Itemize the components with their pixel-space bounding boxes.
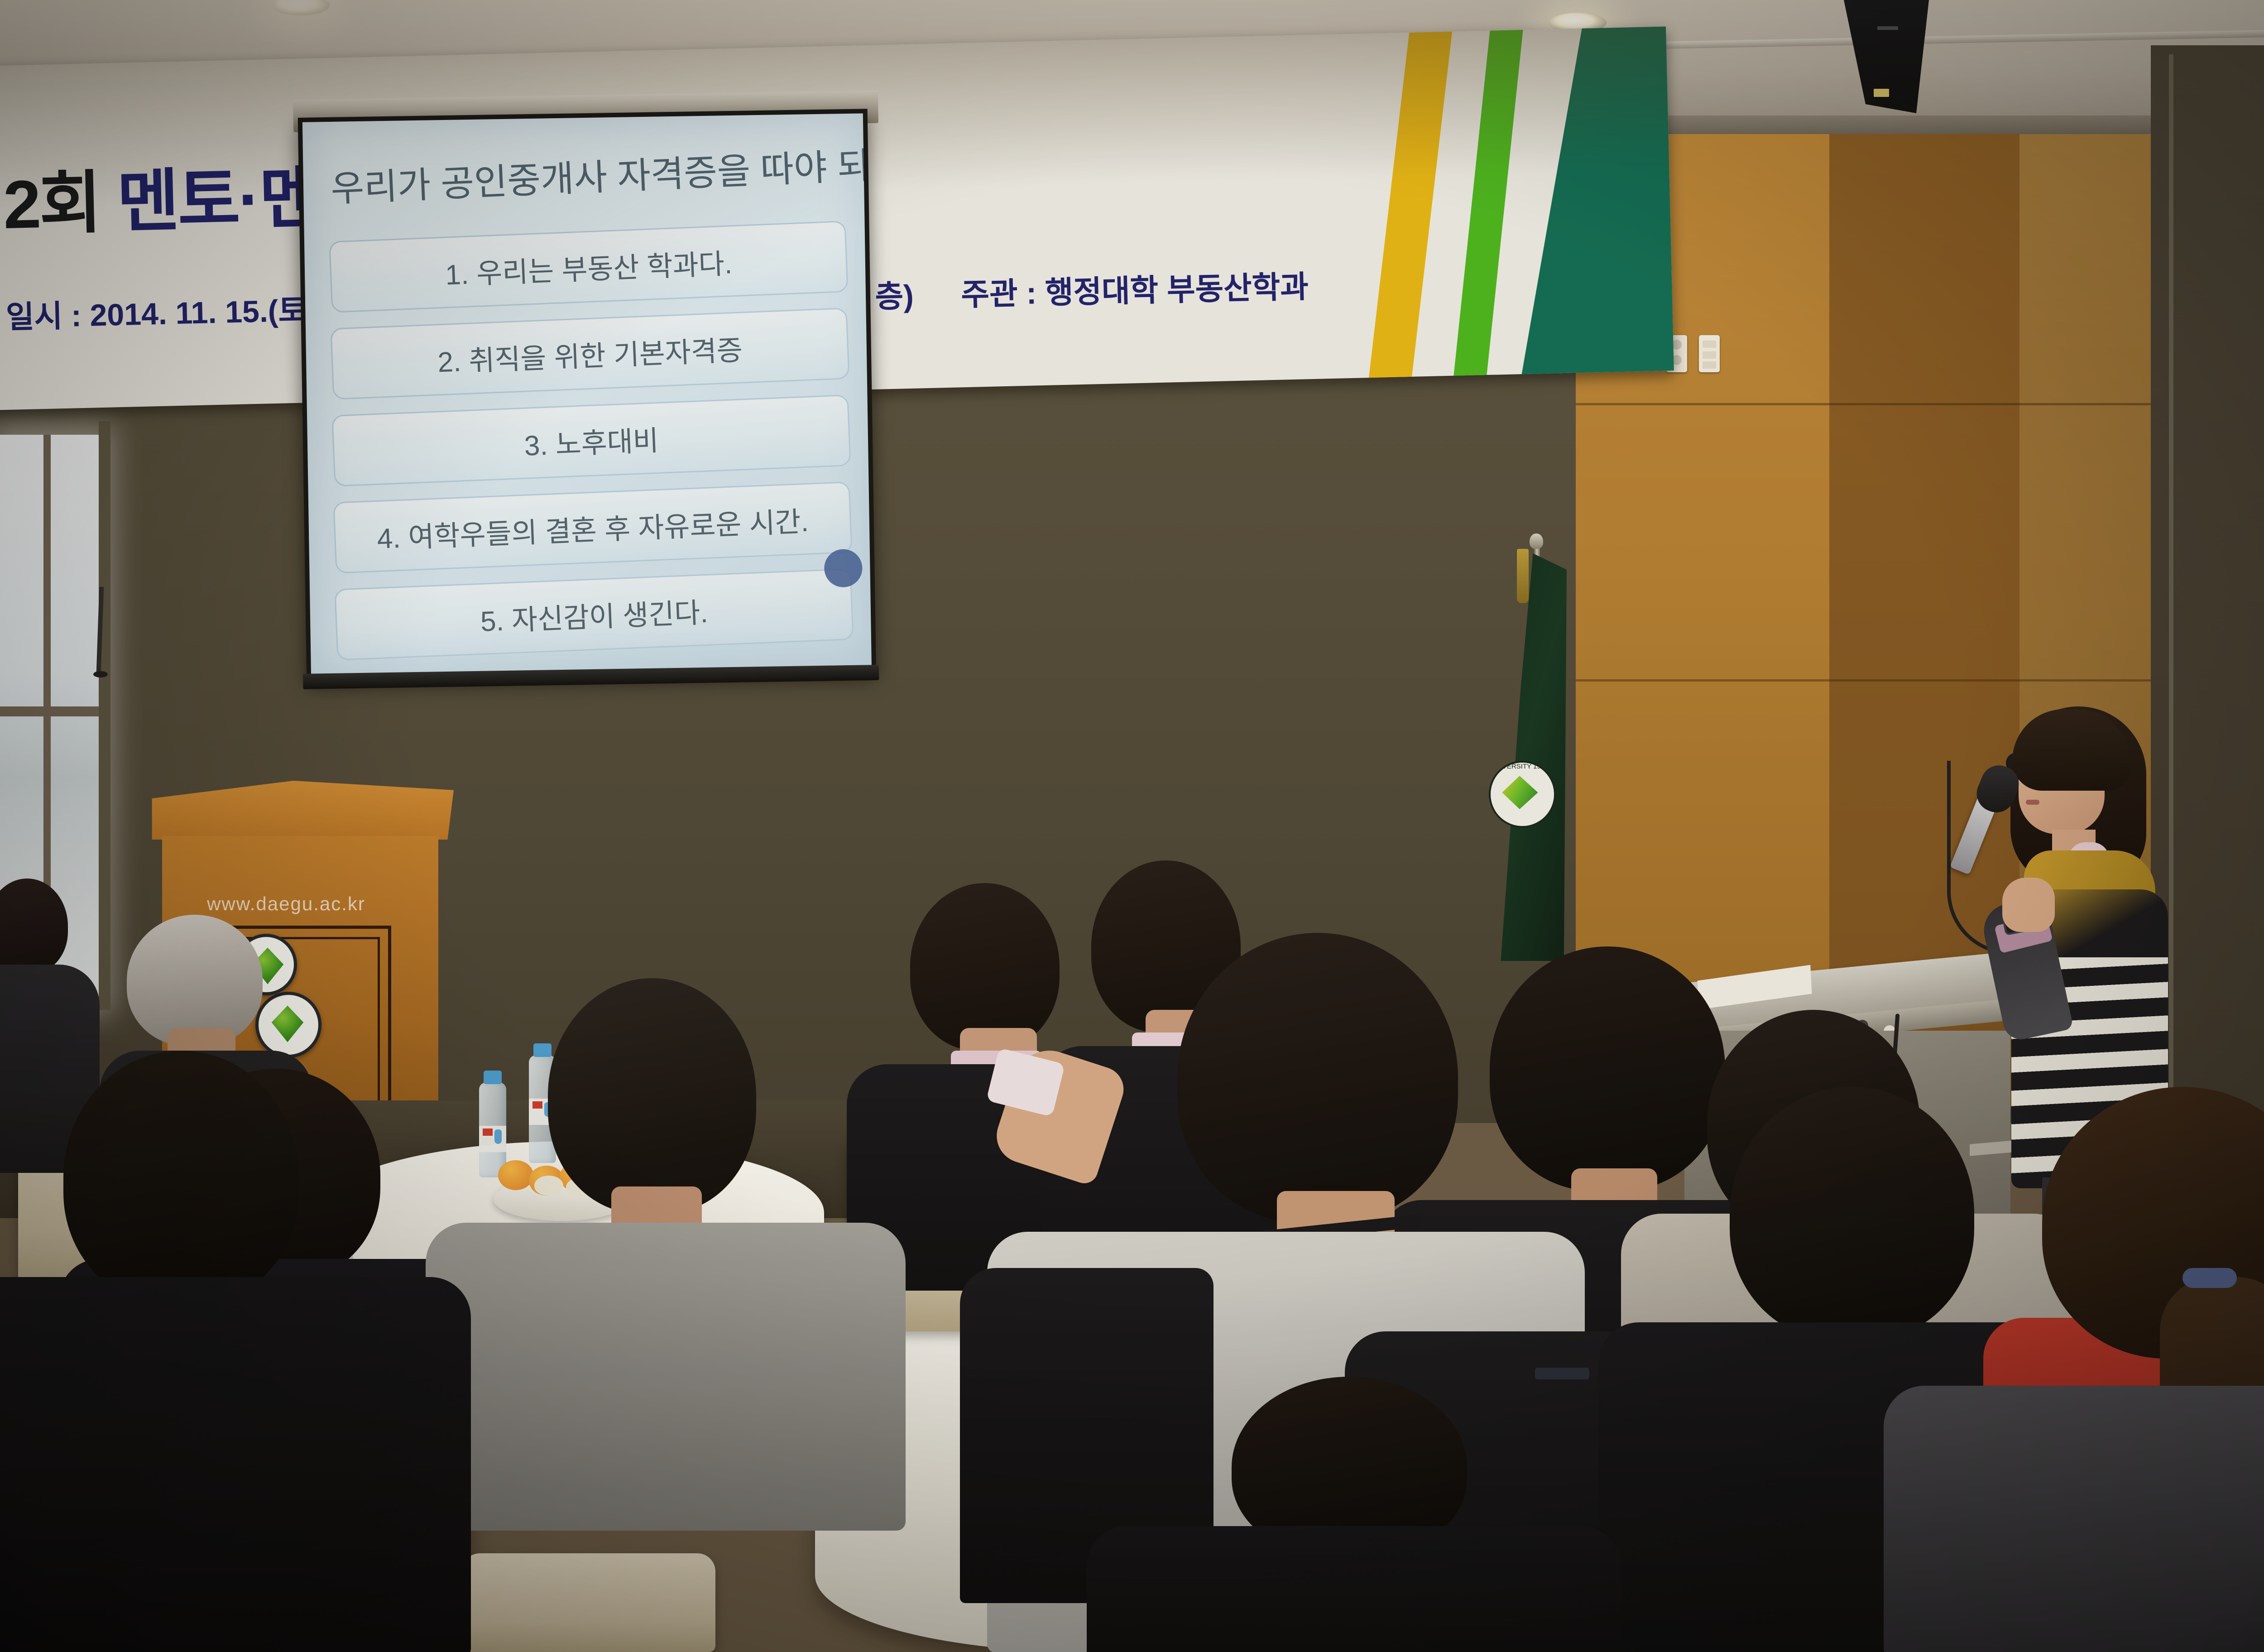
chair xyxy=(462,1553,715,1652)
slide-bullet-4-label: 4. 여학우들의 결혼 후 자유로운 시간. xyxy=(376,499,809,557)
banner-host-line: 주관 : 행정대학 부동산학과 xyxy=(960,261,1309,314)
head xyxy=(63,1051,299,1304)
podium-top xyxy=(146,781,454,840)
attendee-front-left-dark xyxy=(0,1051,417,1652)
head xyxy=(548,978,756,1214)
attendee-grey-jacket-front xyxy=(475,978,856,1522)
wood-seam xyxy=(1576,403,2155,405)
head xyxy=(127,915,263,1046)
torso xyxy=(0,1277,471,1652)
slide-cursor-blob xyxy=(824,548,863,588)
slide-bullet-list: 1. 우리는 부동산 학과다. 2. 취직을 위한 기본자격증 3. 노후대비 … xyxy=(330,227,854,670)
window-frame xyxy=(99,421,110,1010)
slide-bullet-5: 5. 자신감이 생긴다. xyxy=(334,568,854,661)
head xyxy=(1177,933,1458,1223)
slide-bullet-1: 1. 우리는 부동산 학과다. xyxy=(329,221,848,313)
lecture-hall-photo: 2회 멘토·멘특강 및 세미나 일시 : 2014. 11. 15.(토)10:… xyxy=(0,0,2264,1652)
flag-finial xyxy=(1530,533,1543,549)
flag-seal: UNIVERSITY 1956 xyxy=(1489,761,1556,828)
torso xyxy=(1087,1526,1621,1652)
projected-slide: 우리가 공인중개사 자격증을 따야 되는 이유 1. 우리는 부동산 학과다. … xyxy=(302,113,872,674)
presenter-hand xyxy=(2002,878,2055,932)
flag-seal-text: UNIVERSITY 1956 xyxy=(1491,763,1554,826)
banner-title-prefix: 2회 xyxy=(2,164,101,243)
slide-bullet-3: 3. 노후대비 xyxy=(331,394,851,487)
slide-bullet-3-label: 3. 노후대비 xyxy=(523,418,659,464)
attendee-ponytail-right xyxy=(1938,1087,2264,1652)
head xyxy=(0,879,68,974)
torso xyxy=(1884,1386,2264,1652)
slide-bullet-4: 4. 여학우들의 결혼 후 자유로운 시간. xyxy=(333,481,852,574)
head xyxy=(1730,1087,1974,1340)
window-mullion xyxy=(0,706,104,716)
banner-title-main: 멘토·멘 xyxy=(99,159,321,240)
screen-stand-foot xyxy=(93,671,108,677)
slide-bullet-5-label: 5. 자신감이 생긴다. xyxy=(480,590,709,639)
wood-seam xyxy=(1576,679,2155,682)
presenter-mouth xyxy=(2026,800,2039,805)
projection-screen: 우리가 공인중개사 자격증을 따야 되는 이유 1. 우리는 부동산 학과다. … xyxy=(289,91,888,734)
flag-tassel xyxy=(1517,549,1529,603)
torso xyxy=(426,1223,906,1531)
attendee-front-center-bottom xyxy=(1105,1377,1603,1652)
light-switch-icon[interactable] xyxy=(1699,335,1720,372)
slide-bullet-2-label: 2. 취직을 위한 기본자격증 xyxy=(437,327,743,380)
screen-frame: 우리가 공인중개사 자격증을 따야 되는 이유 1. 우리는 부동산 학과다. … xyxy=(298,109,876,679)
slide-title: 우리가 공인중개사 자격증을 따야 되는 이유 xyxy=(330,137,851,212)
podium-url-label: www.daegu.ac.kr xyxy=(182,893,390,915)
hair-tie xyxy=(2182,1268,2237,1288)
slide-bullet-1-label: 1. 우리는 부동산 학과다. xyxy=(444,240,733,293)
slide-bullet-2: 2. 취직을 위한 기본자격증 xyxy=(330,307,849,400)
